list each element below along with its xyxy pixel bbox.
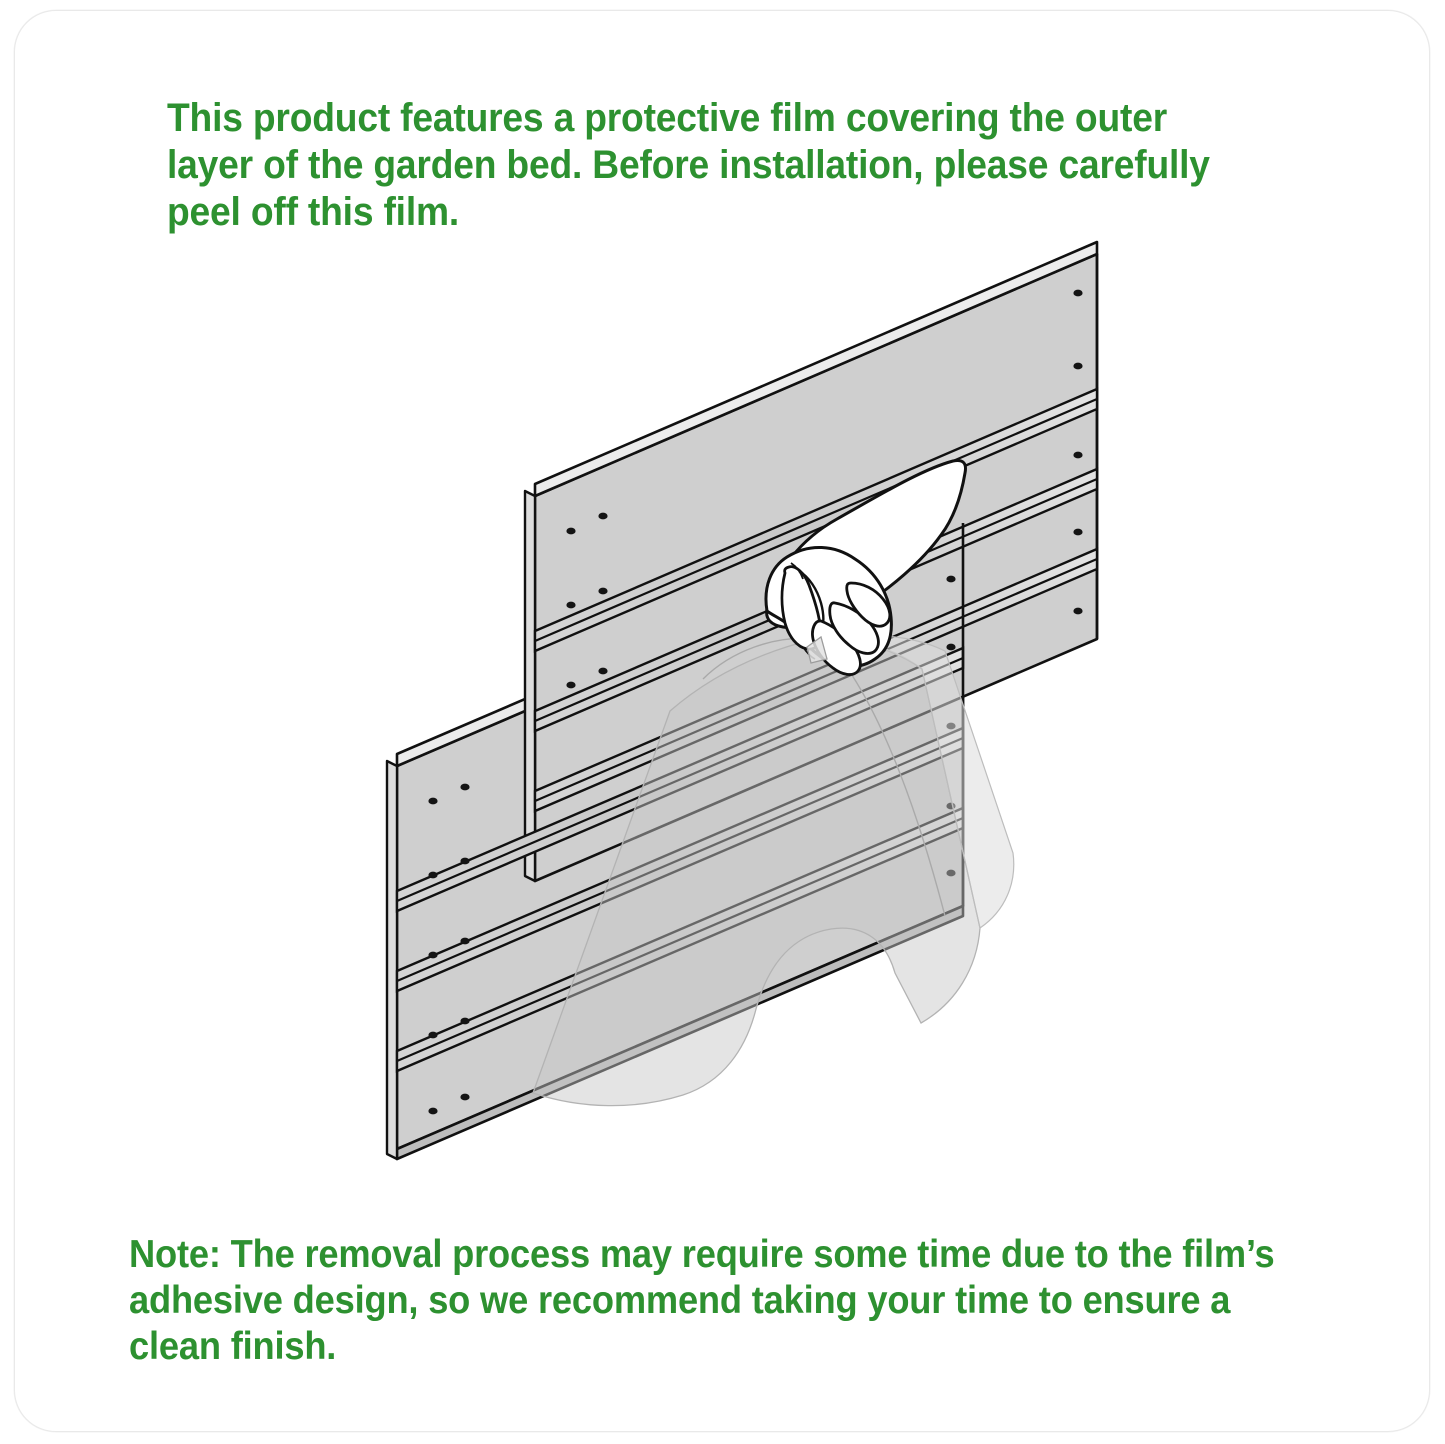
- fingertip-crease: [803, 647, 815, 659]
- rivet: [946, 644, 955, 651]
- index-finger: [782, 567, 821, 649]
- lower-panel: [387, 511, 963, 1159]
- protective-film: [533, 635, 1014, 1106]
- rivet: [1073, 452, 1082, 459]
- rivet: [946, 576, 955, 583]
- rib-groove: [397, 648, 963, 911]
- rivet: [566, 602, 575, 609]
- film-top-edge-highlight: [703, 638, 815, 679]
- rivet-group: [428, 290, 1082, 1115]
- film-lifted-corner: [815, 635, 1014, 928]
- rib-groove: [397, 728, 963, 991]
- middle-finger: [812, 621, 860, 675]
- rivet: [460, 858, 469, 865]
- little-finger: [847, 583, 890, 626]
- film-crease: [821, 635, 945, 916]
- rib-groove: [535, 549, 1097, 811]
- upper-panel-face: [535, 254, 1097, 881]
- rivet: [946, 723, 955, 730]
- rivet: [1073, 608, 1082, 615]
- forearm: [767, 461, 966, 629]
- rivet: [946, 870, 955, 877]
- rivet: [566, 528, 575, 535]
- lower-panel-left-return: [387, 761, 397, 1159]
- instruction-page: This product features a protective film …: [0, 0, 1445, 1444]
- lower-panel-face: [397, 523, 963, 1149]
- pinched-film-tip: [807, 637, 827, 663]
- rivet: [428, 798, 437, 805]
- panel-assembly: [387, 242, 1097, 1159]
- lower-panel-top-lip: [397, 511, 963, 766]
- instruction-card: This product features a protective film …: [14, 10, 1430, 1432]
- rivet: [1073, 363, 1082, 370]
- ring-finger: [830, 603, 879, 654]
- rivet: [460, 938, 469, 945]
- rivet: [428, 872, 437, 879]
- rivet: [428, 952, 437, 959]
- rivet: [1073, 290, 1082, 297]
- rivet: [428, 1108, 437, 1115]
- upper-panel: [525, 242, 1097, 881]
- upper-panel-left-return: [525, 491, 535, 881]
- upper-panel-top-lip: [535, 242, 1097, 496]
- rivet: [1073, 529, 1082, 536]
- rivet: [598, 668, 607, 675]
- rivet: [460, 784, 469, 791]
- rivet: [566, 682, 575, 689]
- rivet: [598, 588, 607, 595]
- rivet: [946, 803, 955, 810]
- note-instruction-text: Note: The removal process may require so…: [129, 1232, 1282, 1370]
- rib-groove: [535, 469, 1097, 731]
- lower-panel-ribs: [397, 648, 963, 1071]
- rivet: [598, 513, 607, 520]
- knuckle-crease: [791, 563, 803, 579]
- rib-groove: [535, 389, 1097, 651]
- rivet: [428, 1032, 437, 1039]
- film-main-sheet: [533, 639, 980, 1106]
- rivet: [460, 1094, 469, 1101]
- upper-panel-ribs: [535, 389, 1097, 811]
- palm: [766, 547, 891, 666]
- rib-groove: [397, 808, 963, 1071]
- heading-instruction-text: This product features a protective film …: [167, 95, 1246, 236]
- hand: [766, 461, 966, 675]
- rivet: [460, 1018, 469, 1025]
- thumb: [799, 571, 823, 633]
- lower-panel-bottom-flange: [397, 906, 963, 1159]
